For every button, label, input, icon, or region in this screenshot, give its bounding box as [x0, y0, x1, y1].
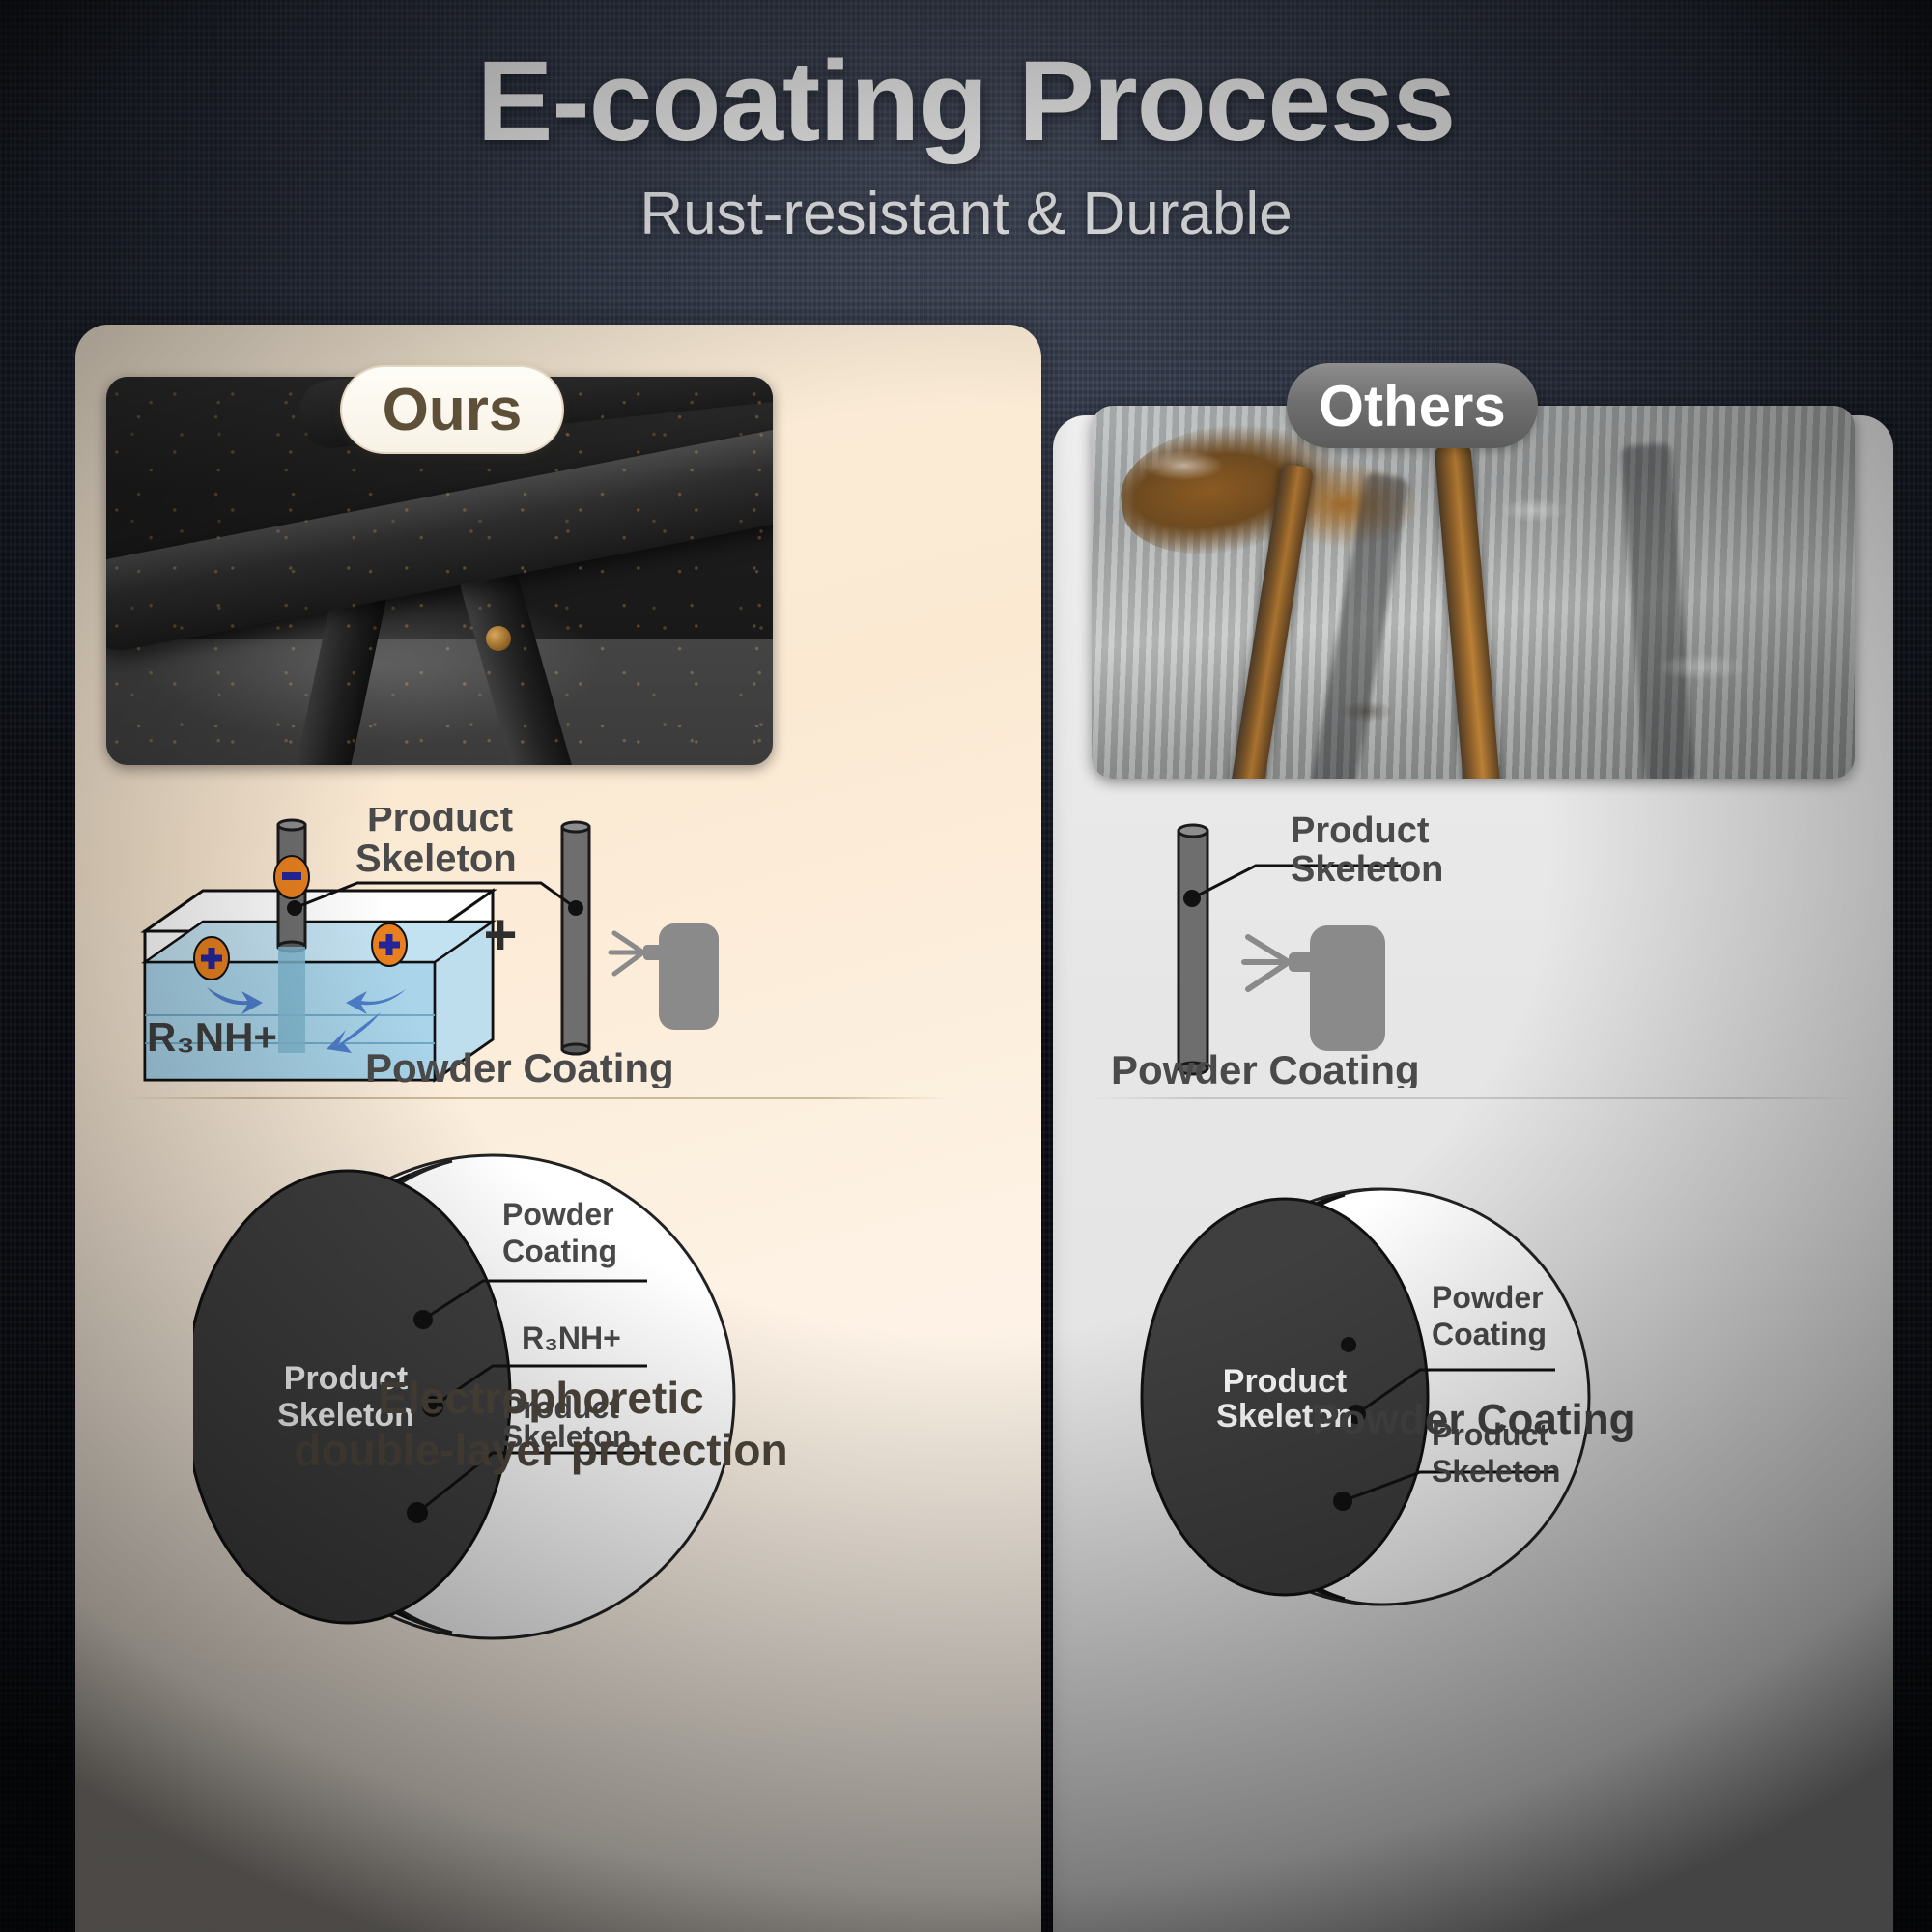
callout-powder-coating-line1: Powder	[502, 1197, 614, 1232]
diagram-powder-spray: Product Skeleton Powder Coating	[1082, 808, 1855, 1088]
product-skeleton-rod-icon	[562, 822, 589, 1054]
spray-gun-icon	[611, 923, 719, 1030]
label-solution: R₃NH+	[147, 1014, 277, 1060]
diagram-electrophoresis-tank: R₃NH+ + Product Skeleton Powder Coatin	[126, 808, 879, 1088]
label-product-skeleton-line2: Skeleton	[355, 838, 517, 880]
badge-ours: Ours	[340, 365, 564, 454]
paint-peel-texture	[1092, 406, 1855, 779]
page-title: E-coating Process	[0, 43, 1932, 162]
label-powder-coating: Powder Coating	[1111, 1047, 1420, 1088]
divider-ours	[126, 1097, 947, 1099]
caption-others: Powder Coating	[1092, 1395, 1855, 1445]
comparison-panels: Others Product Skeleton Powder Coating	[0, 325, 1932, 1932]
header: E-coating Process Rust-resistant & Durab…	[0, 0, 1932, 248]
positive-ion-icon	[194, 937, 229, 980]
label-product-skeleton-line1: Product	[367, 808, 513, 839]
caption-ours: Electrophoretic double-layer protection	[126, 1372, 956, 1477]
caption-ours-line1: Electrophoretic	[126, 1372, 956, 1424]
spray-gun-icon	[1244, 925, 1385, 1051]
label-product-skeleton-line1: Product	[1291, 810, 1430, 851]
badge-others: Others	[1287, 363, 1538, 448]
callout-product-skeleton-line2: Skeleton	[1432, 1454, 1560, 1489]
label-plus: +	[483, 902, 517, 967]
caption-ours-line2: double-layer protection	[126, 1424, 956, 1476]
callout-solution: R₃NH+	[522, 1321, 621, 1355]
callout-powder-coating-line1: Powder	[1432, 1280, 1544, 1315]
positive-ion-icon	[372, 923, 407, 966]
photo-others-rusted-rods	[1092, 406, 1855, 779]
label-powder-coating: Powder Coating	[365, 1045, 674, 1088]
page-subtitle: Rust-resistant & Durable	[0, 180, 1932, 248]
divider-others	[1092, 1097, 1855, 1099]
callout-powder-coating-line2: Coating	[502, 1234, 617, 1268]
label-product-skeleton-line2: Skeleton	[1291, 849, 1443, 890]
callout-powder-coating-line2: Coating	[1432, 1317, 1547, 1351]
product-skeleton-rod-icon	[1179, 825, 1207, 1074]
negative-ion-icon	[274, 856, 309, 898]
